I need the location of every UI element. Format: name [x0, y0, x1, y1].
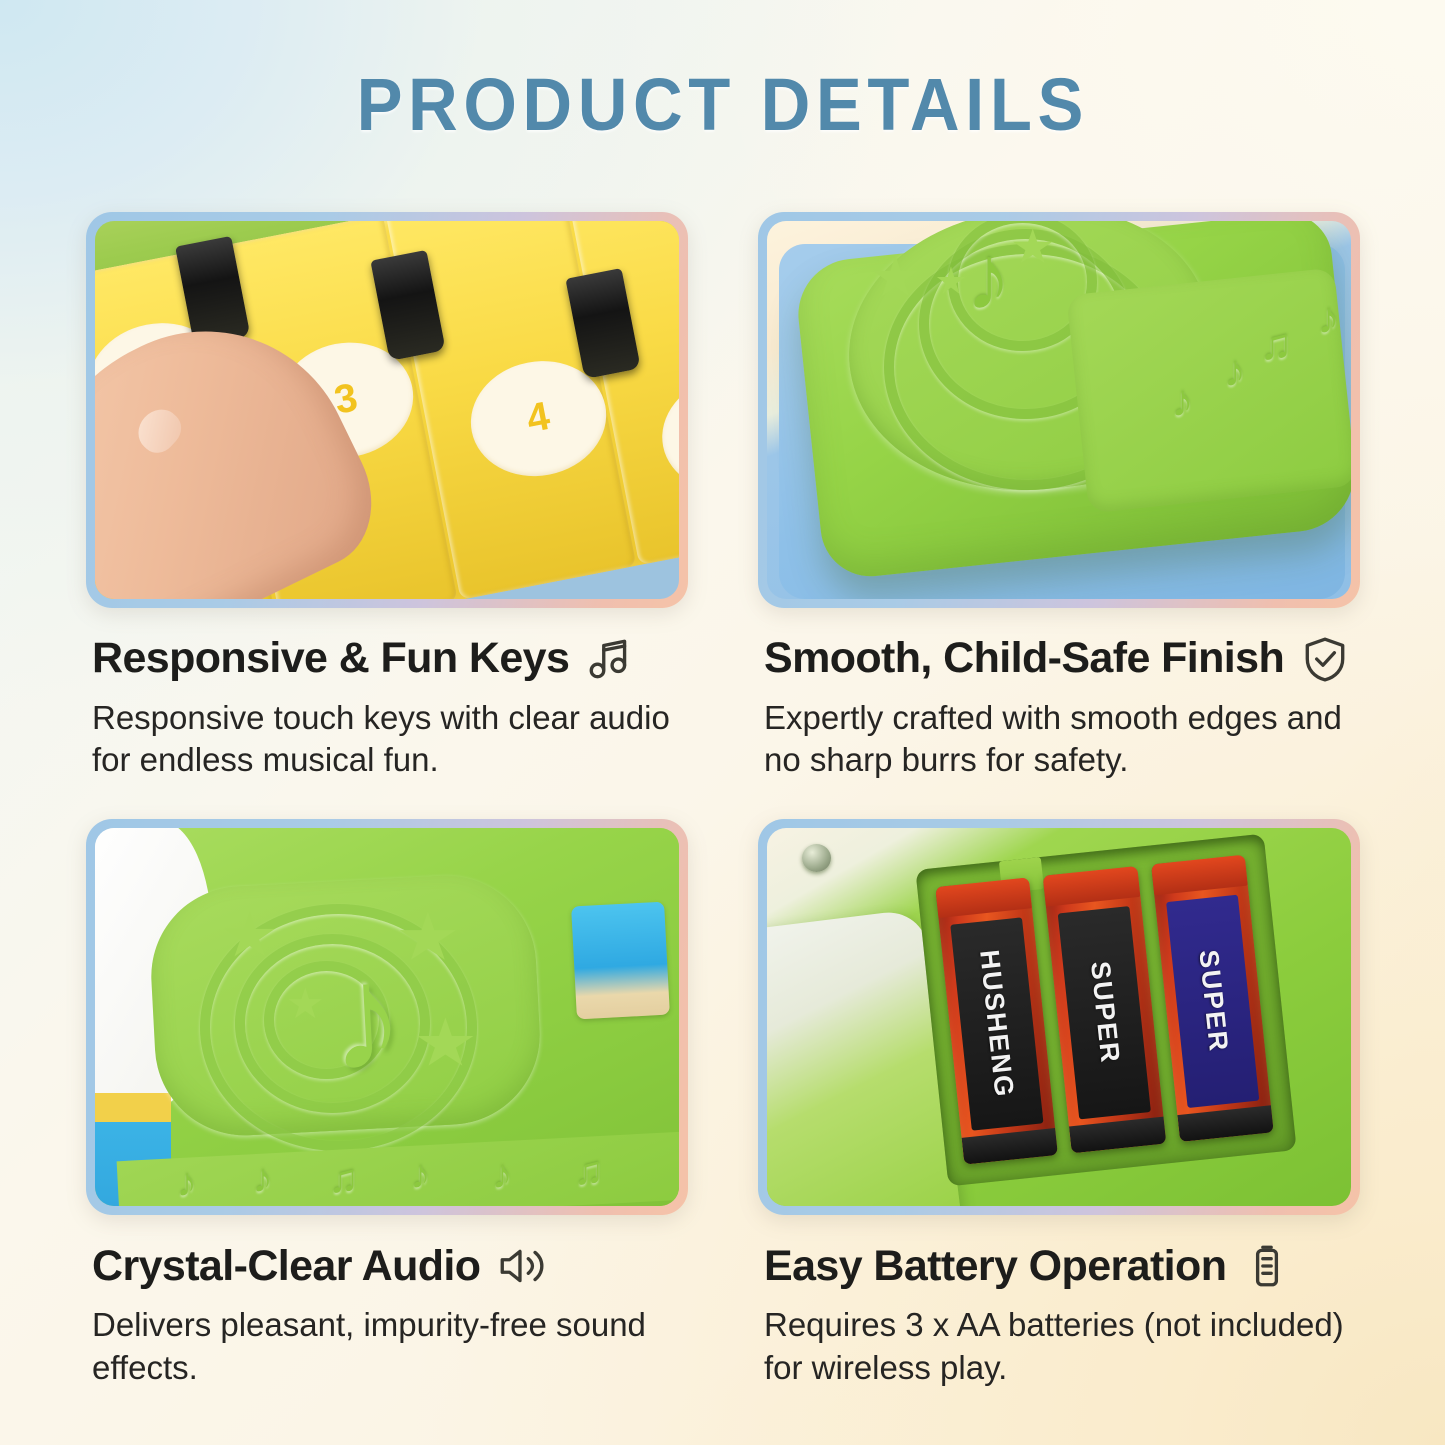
card-body-1: Responsive touch keys with clear audio f… [92, 697, 682, 781]
feature-card-responsive-fun-keys: 1 3 4 5 Responsive & Fun Keys [86, 212, 688, 781]
embossed-note-4: ♪ [1317, 297, 1339, 341]
battery-label-3: SUPER [1166, 895, 1259, 1108]
shield-check-icon [1300, 634, 1350, 684]
embossed-note-3: ♫ [1260, 323, 1293, 367]
toy-key-strip [1066, 268, 1351, 514]
product-details-infographic: PRODUCT DETAILS 1 3 4 [0, 0, 1445, 1445]
speaker-icon [496, 1241, 546, 1291]
bottom-note-5: ♪ [492, 1155, 512, 1195]
card-heading-row-1: Responsive & Fun Keys [92, 634, 682, 684]
card-text-3: Crystal-Clear Audio Delivers pleasant, i… [86, 1215, 688, 1388]
battery-label-1: HUSHENG [950, 918, 1043, 1131]
photo-speaker-closeup: ♪ ♪ ♪ ♫ ♪ ♪ ♫ [95, 828, 679, 1206]
embossed-note-1: ♪ [1171, 380, 1193, 424]
battery-label-text-3: SUPER [1191, 949, 1233, 1055]
embossed-note-large: ♪ [966, 232, 1012, 324]
card-heading-3: Crystal-Clear Audio [92, 1244, 480, 1289]
card-heading-4: Easy Battery Operation [764, 1244, 1226, 1289]
card-body-2: Expertly crafted with smooth edges and n… [764, 697, 1354, 781]
bottom-note-2: ♪ [253, 1159, 273, 1199]
battery-icon [1242, 1241, 1292, 1291]
battery-negative-cap-2 [1069, 1116, 1166, 1154]
battery-cell-3: SUPER [1150, 855, 1273, 1143]
bottom-note-1: ♪ [177, 1163, 197, 1203]
photo-frame-1: 1 3 4 5 [86, 212, 688, 608]
photo-battery-compartment: HUSHENG SUPER [767, 828, 1351, 1206]
card-heading-row-4: Easy Battery Operation [764, 1241, 1354, 1291]
battery-cell-1: HUSHENG [934, 878, 1057, 1166]
card-heading-row-3: Crystal-Clear Audio [92, 1241, 682, 1291]
battery-positive-cap-3 [1150, 855, 1247, 895]
feature-card-grid: 1 3 4 5 Responsive & Fun Keys [86, 212, 1360, 1389]
battery-negative-cap-3 [1177, 1105, 1274, 1143]
card-text-2: Smooth, Child-Safe Finish Expertly craft… [758, 608, 1360, 781]
photo-smooth-edges: ♪ ♪ ♪ ♫ ♪ [767, 221, 1351, 599]
fingernail [130, 401, 189, 460]
card-body-4: Requires 3 x AA batteries (not included)… [764, 1304, 1354, 1388]
battery-negative-cap-1 [961, 1128, 1058, 1166]
feature-card-smooth-child-safe-finish: ♪ ♪ ♪ ♫ ♪ Smooth, Child-Safe Finish [758, 212, 1360, 781]
battery-positive-cap-2 [1042, 866, 1139, 906]
card-heading-row-2: Smooth, Child-Safe Finish [764, 634, 1354, 684]
card-heading-2: Smooth, Child-Safe Finish [764, 636, 1284, 681]
card-text-1: Responsive & Fun Keys Responsive touch k… [86, 608, 688, 781]
battery-label-2: SUPER [1058, 906, 1151, 1119]
card-text-4: Easy Battery Operation Requires 3 x AA b… [758, 1215, 1360, 1388]
card-body-3: Delivers pleasant, impurity-free sound e… [92, 1304, 682, 1388]
bottom-note-4: ♪ [410, 1155, 430, 1195]
page-title-wrap: PRODUCT DETAILS [0, 62, 1445, 147]
bottom-note-6: ♫ [574, 1151, 604, 1191]
compartment-screw [802, 844, 831, 872]
ocean-sticker [571, 902, 670, 1020]
bottom-note-3: ♫ [329, 1159, 359, 1199]
battery-label-text-2: SUPER [1083, 960, 1125, 1066]
battery-label-text-1: HUSHENG [973, 948, 1019, 1099]
embossed-note-2: ♪ [1224, 350, 1246, 394]
feature-card-easy-battery-operation: HUSHENG SUPER [758, 819, 1360, 1388]
feature-card-crystal-clear-audio: ♪ ♪ ♪ ♫ ♪ ♪ ♫ Crystal-Clear Audio [86, 819, 688, 1388]
battery-positive-cap-1 [934, 878, 1031, 918]
card-heading-1: Responsive & Fun Keys [92, 636, 569, 681]
photo-piano-keys: 1 3 4 5 [95, 221, 679, 599]
music-note-icon [585, 634, 635, 684]
battery-cell-2: SUPER [1042, 866, 1165, 1154]
speaker-music-note: ♪ [325, 940, 408, 1094]
photo-frame-2: ♪ ♪ ♪ ♫ ♪ [758, 212, 1360, 608]
photo-frame-4: HUSHENG SUPER [758, 819, 1360, 1215]
page-title: PRODUCT DETAILS [356, 62, 1088, 147]
battery-bay: HUSHENG SUPER [915, 834, 1297, 1186]
photo-frame-3: ♪ ♪ ♪ ♫ ♪ ♪ ♫ [86, 819, 688, 1215]
